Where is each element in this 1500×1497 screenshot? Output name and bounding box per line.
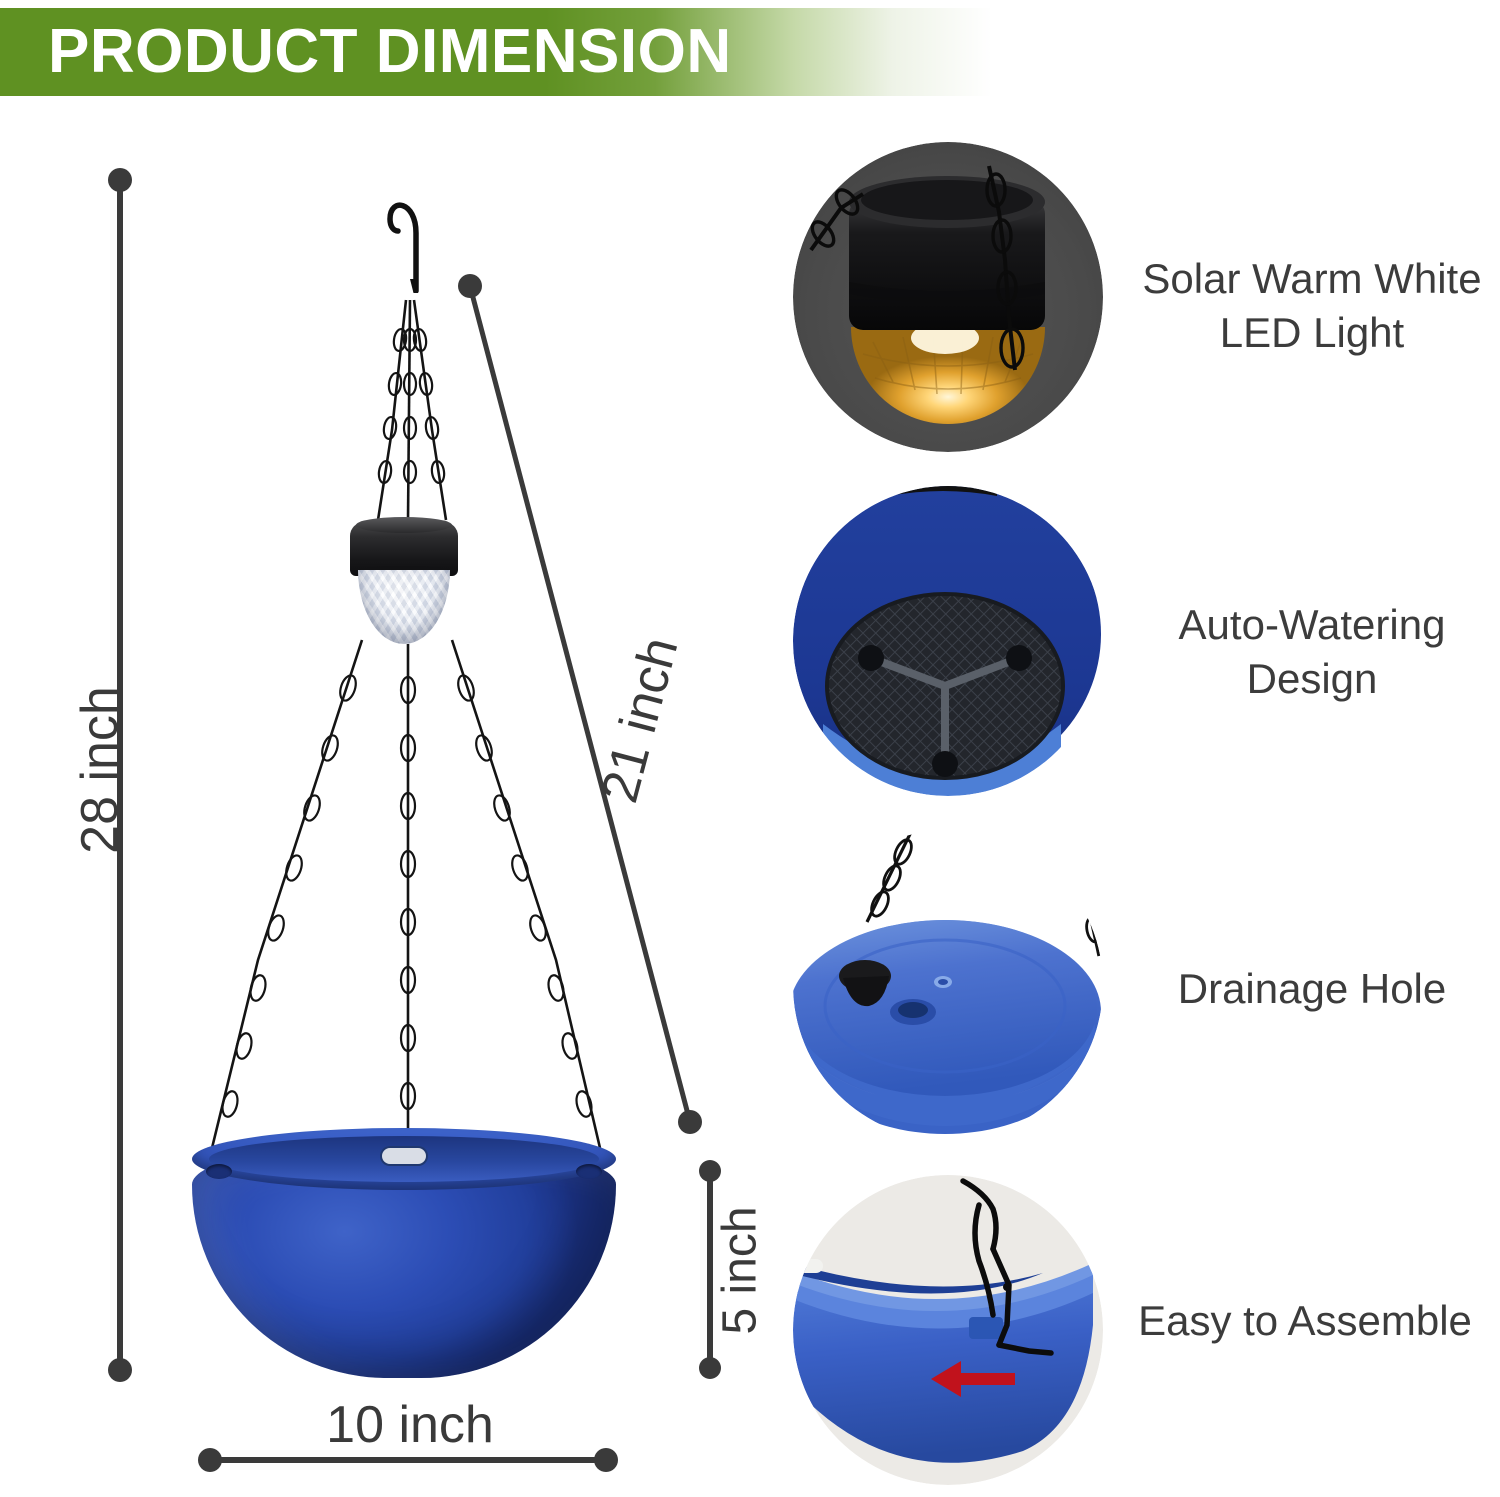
dim-height-bottom-dot <box>108 1358 132 1382</box>
auto-watering-photo <box>793 486 1103 796</box>
dim-width-line <box>210 1457 606 1463</box>
feature-photo-auto-watering <box>793 486 1103 796</box>
pot-hook-slot-left <box>206 1164 232 1179</box>
easy-assemble-photo <box>793 1175 1103 1485</box>
overflow-indicator <box>382 1148 426 1164</box>
dim-width-label: 10 inch <box>200 1395 620 1455</box>
feature-photo-easy-assemble <box>793 1175 1103 1485</box>
drainage-hole-photo <box>793 830 1103 1140</box>
planter-pot <box>192 1128 616 1378</box>
feature-photo-drainage-hole <box>793 830 1103 1140</box>
feature-label-solar-led: Solar Warm White LED Light <box>1124 252 1500 360</box>
feature-label-easy-assemble: Easy to Assemble <box>1110 1294 1500 1348</box>
crystal-dome <box>358 570 450 644</box>
feature-photo-solar-led <box>793 142 1103 452</box>
feature-label-auto-watering: Auto-Watering Design <box>1124 598 1500 706</box>
pot-hook-slot-right <box>576 1164 602 1179</box>
solar-led-photo <box>793 142 1103 452</box>
solar-panel-top <box>356 517 452 533</box>
dim-height-label: 28 inch <box>70 655 130 885</box>
feature-label-drainage-hole: Drainage Hole <box>1124 962 1500 1016</box>
solar-light <box>350 522 458 644</box>
dim-depth-label: 5 inch <box>713 1171 768 1371</box>
